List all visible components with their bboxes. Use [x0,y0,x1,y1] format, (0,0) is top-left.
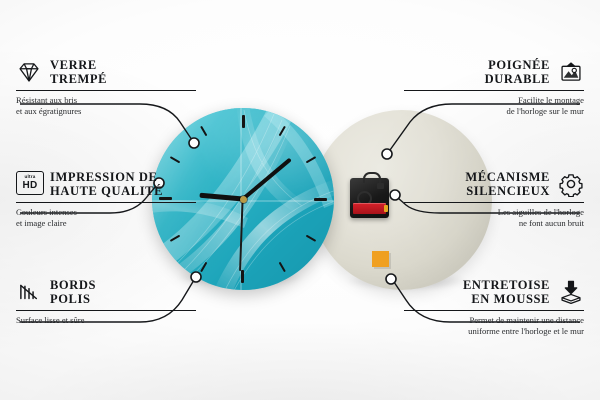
feature-description: Résistant aux bris et aux égratignures [16,95,196,116]
gear-icon [558,171,584,197]
ultra-hd-big-label: HD [22,181,37,191]
connector-dot-entretoise [386,274,396,284]
feature-title: ENTRETOISE EN MOUSSE [463,278,550,306]
feature-title-line1: IMPRESSION DE [50,170,163,184]
feature-divider [404,202,584,203]
feature-desc-line2: et aux égratignures [16,106,196,117]
feature-description: Les aiguilles de l'horloge ne font aucun… [404,207,584,228]
feature-title-line1: VERRE [50,58,107,72]
connector-dot-poignee [382,149,392,159]
feature-desc-line2: et image claire [16,218,196,229]
infographic-canvas: VERRE TREMPÉ Résistant aux bris et aux é… [0,0,600,400]
feature-poignee-durable: POIGNÉE DURABLE Facilite le montage de l… [404,58,584,116]
feature-desc-line1: Résistant aux bris [16,95,196,106]
feature-divider [404,310,584,311]
feature-desc-line1: Couleurs intenses [16,207,196,218]
feature-title: POIGNÉE DURABLE [485,58,550,86]
foam-spacer-icon [558,279,584,305]
feature-description: Permet de maintenir une distance uniform… [404,315,584,336]
feature-desc-line1: Permet de maintenir une distance [404,315,584,326]
diamond-icon [16,59,42,85]
feature-title-line1: POIGNÉE [485,58,550,72]
feature-mecanisme-silencieux: MÉCANISME SILENCIEUX Les aiguilles de l'… [404,170,584,228]
feature-description: Couleurs intenses et image claire [16,207,196,228]
feature-divider [16,310,196,311]
feature-description: Surface lisse et sûre [16,315,196,326]
feature-impression-haute-qualite: ultra HD IMPRESSION DE HAUTE QUALITÉ Cou… [16,170,196,228]
feature-divider [16,202,196,203]
feature-title: VERRE TREMPÉ [50,58,107,86]
feature-desc-line1: Facilite le montage [404,95,584,106]
feature-title-line2: DURABLE [485,72,550,86]
picture-hanger-icon [558,59,584,85]
feature-desc-line2: ne font aucun bruit [404,218,584,229]
feature-title: BORDS POLIS [50,278,96,306]
polished-edges-icon [16,279,42,305]
feature-desc-line1: Les aiguilles de l'horloge [404,207,584,218]
feature-title: IMPRESSION DE HAUTE QUALITÉ [50,170,163,198]
feature-description: Facilite le montage de l'horloge sur le … [404,95,584,116]
feature-bords-polis: BORDS POLIS Surface lisse et sûre [16,278,196,326]
feature-title-line2: TREMPÉ [50,72,107,86]
feature-title-line1: ENTRETOISE [463,278,550,292]
feature-desc-line2: uniforme entre l'horloge et le mur [404,326,584,337]
feature-title-line2: EN MOUSSE [463,292,550,306]
feature-title-line2: POLIS [50,292,96,306]
ultra-hd-icon: ultra HD [16,171,42,197]
feature-title-line1: MÉCANISME [465,170,550,184]
feature-title: MÉCANISME SILENCIEUX [465,170,550,198]
feature-title-line2: SILENCIEUX [465,184,550,198]
connector-dot-verre [189,138,199,148]
feature-title-line2: HAUTE QUALITÉ [50,184,163,198]
feature-verre-trempe: VERRE TREMPÉ Résistant aux bris et aux é… [16,58,196,116]
feature-desc-line2: de l'horloge sur le mur [404,106,584,117]
connector-dot-mecanisme [390,190,400,200]
feature-title-line1: BORDS [50,278,96,292]
feature-entretoise-en-mousse: ENTRETOISE EN MOUSSE Permet de maintenir… [404,278,584,336]
feature-divider [16,90,196,91]
feature-desc-line1: Surface lisse et sûre [16,315,196,326]
feature-divider [404,90,584,91]
